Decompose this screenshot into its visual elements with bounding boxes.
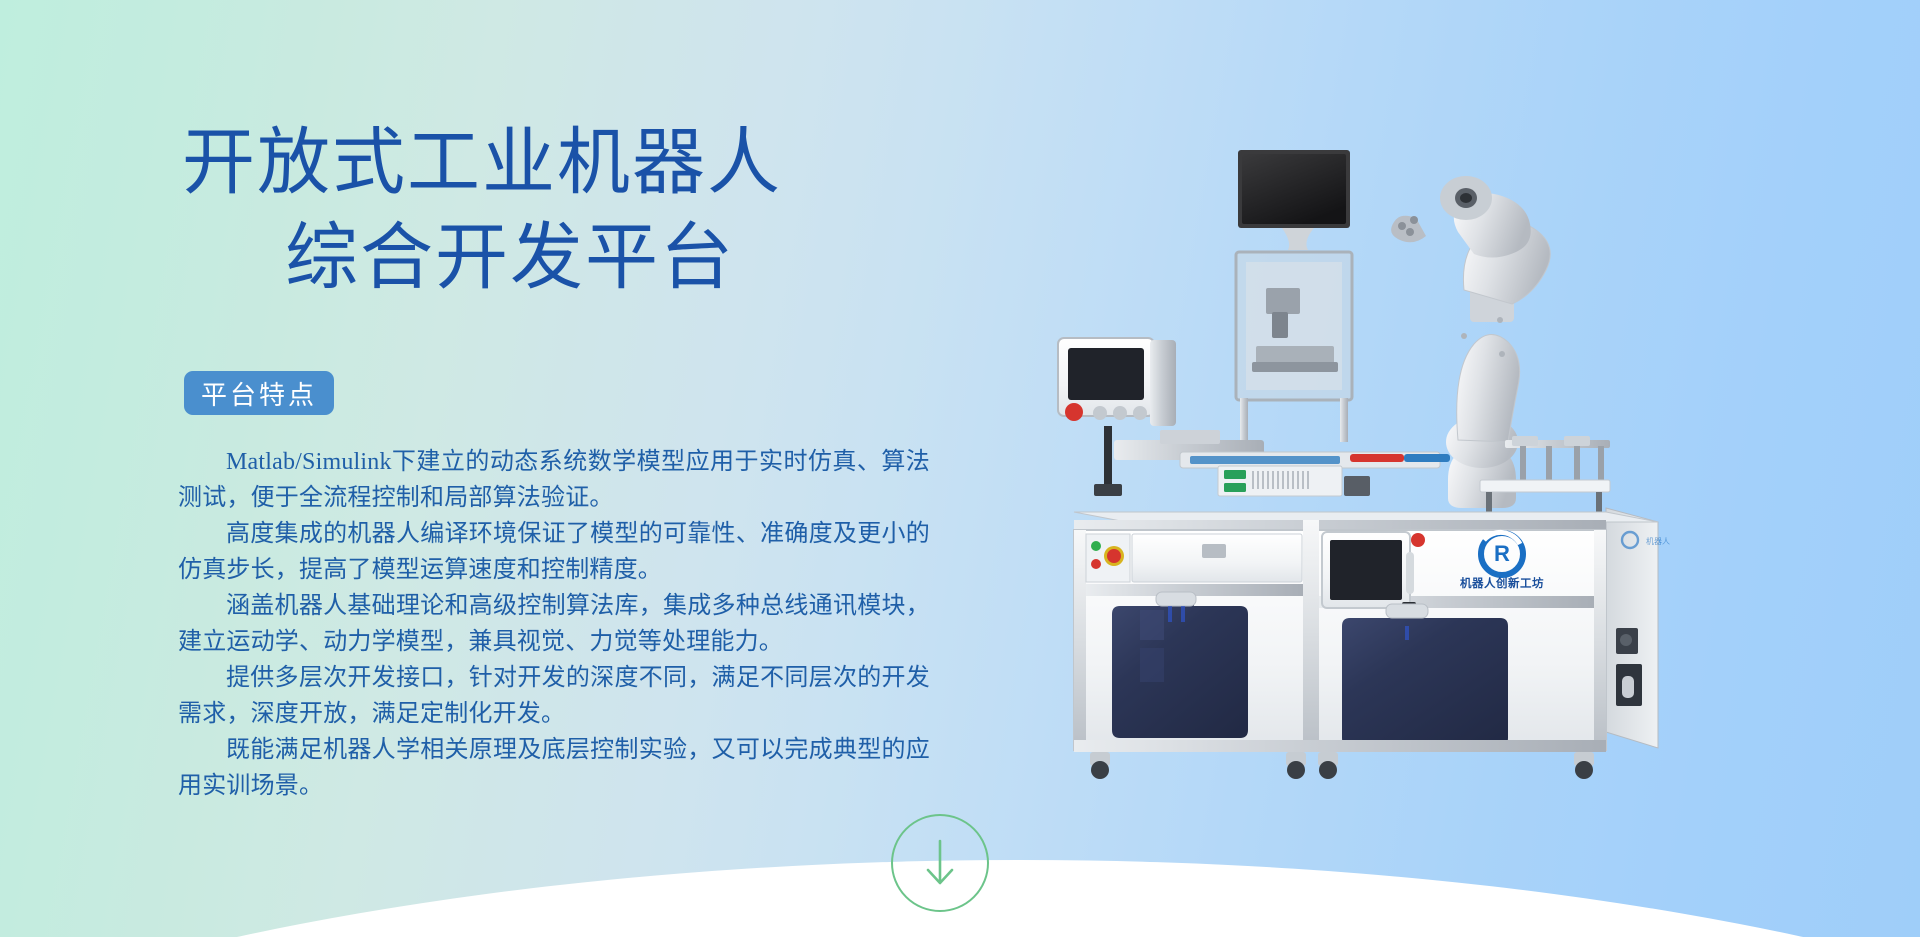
badge-label: 平台特点 (201, 375, 317, 412)
feature-paragraph-4: 提供多层次开发接口，针对开发的深度不同，满足不同层次的开发需求，深度开放，满足定… (178, 660, 930, 732)
machine-enclosure (1236, 252, 1352, 442)
svg-text:机器人创新: 机器人创新 (1646, 536, 1670, 546)
machine-hmi-pendant (1058, 338, 1176, 496)
status-badge: 平台特点 (184, 371, 334, 415)
feature-paragraph-5: 既能满足机器人学相关原理及底层控制实验，又可以完成典型的应用实训场景。 (178, 732, 930, 804)
feature-list: Matlab/Simulink下建立的动态系统数学模型应用于实时仿真、算法测试，… (178, 444, 930, 804)
feature-paragraph-3: 涵盖机器人基础理论和高级控制算法库，集成多种总线通讯模块，建立运动学、动力学模型… (178, 588, 930, 660)
feature-paragraph-2: 高度集成的机器人编译环境保证了模型的可靠性、准确度及更小的仿真步长，提高了模型运… (178, 516, 930, 588)
scroll-down-button[interactable] (891, 814, 989, 912)
hero-banner: R 机器人创新工坊 机器人创新 (0, 0, 1920, 937)
svg-text:机器人创新工坊: 机器人创新工坊 (1460, 576, 1544, 590)
feature-paragraph-1: Matlab/Simulink下建立的动态系统数学模型应用于实时仿真、算法测试，… (178, 444, 930, 516)
page-title-line-2: 综合开发平台 (160, 211, 920, 306)
machine-cabinet: R 机器人创新工坊 机器人创新 (1074, 508, 1670, 752)
svg-text:R: R (1494, 541, 1510, 566)
page-title: 开放式工业机器人 综合开发平台 (160, 116, 920, 306)
machine-casters (1090, 752, 1594, 779)
product-image-industrial-robot-platform: R 机器人创新工坊 机器人创新 (1050, 140, 1670, 780)
arrow-down-icon (923, 837, 957, 889)
machine-monitor (1238, 150, 1350, 250)
page-title-line-1: 开放式工业机器人 (160, 116, 920, 211)
machine-worktable (1114, 430, 1610, 522)
